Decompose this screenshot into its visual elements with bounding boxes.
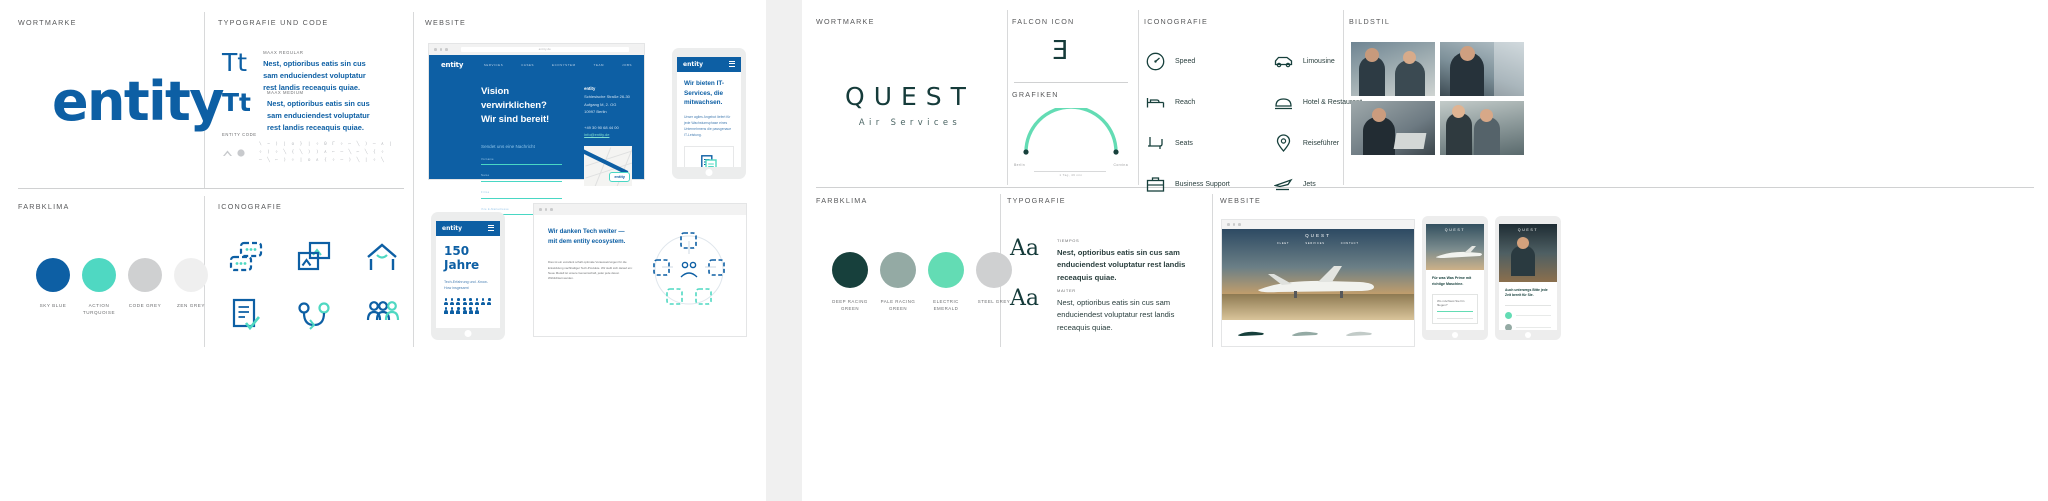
- footer-jet-thumbs: [1236, 328, 1374, 338]
- list-line: [1516, 327, 1551, 328]
- window-dot-green: [1238, 223, 1241, 226]
- quest-nav-contact[interactable]: CONTACT: [1341, 242, 1359, 245]
- code-line-2: ÷ ) ÷ ╲ { ╲ ) ) ∧ ⌐ ─ ╲ ⌐ ╲ { ÷: [259, 149, 393, 157]
- rule: [1505, 305, 1551, 306]
- window-dot-red: [434, 48, 437, 51]
- code-label: ENTITY CODE: [222, 132, 393, 137]
- quest-phone-body-1: Für was Was Prime mit richtige Maschine.…: [1426, 270, 1484, 330]
- person-glyph: [444, 298, 448, 305]
- icon-column-right: Limousine Hotel & Restaurant Reiseführer: [1274, 52, 1362, 194]
- swatch-zen-grey: ZEN GREY: [174, 258, 208, 317]
- seats-icon: [1146, 134, 1165, 153]
- divider-vertical-r5: [1212, 194, 1213, 347]
- quest-wordmark: QUEST Air Services: [820, 82, 1000, 127]
- person-glyph: [463, 307, 467, 314]
- nav-item-team[interactable]: TEAM: [594, 63, 604, 67]
- swatch-deep-racing-green: DEEP RACING GREEN: [832, 252, 868, 313]
- form-field-vorname[interactable]: Vorname: [481, 158, 562, 166]
- phone-topbar: entity: [436, 221, 500, 236]
- label-typografie-right: TYPOGRAFIE: [1007, 196, 1066, 205]
- quest-phone-hero: QUEST: [1426, 224, 1484, 270]
- hero-right-col: entity Schlesische Straße 26-30 Aufgang …: [584, 85, 632, 215]
- entity-wordmark: entity: [52, 70, 223, 133]
- address-bar[interactable]: entity.de: [461, 47, 629, 52]
- icon-item-business-support: Business Support: [1146, 175, 1230, 194]
- quest-phone-hero-2: QUEST: [1499, 224, 1557, 282]
- window-dot-yellow: [440, 48, 443, 51]
- person-glyph: [456, 298, 460, 305]
- phone-screen-services: entity Wir bieten IT-Services, die mitwa…: [677, 57, 741, 167]
- hero-content: Vision verwirklichen? Wir sind bereit! S…: [429, 73, 644, 215]
- falcon-glyph-icon: Ǝ: [1052, 36, 1067, 66]
- jet-silhouette-icon: [1430, 242, 1484, 264]
- icon-label: Reach: [1175, 98, 1195, 108]
- icon-label: Limousine: [1303, 57, 1335, 67]
- icon-label: Speed: [1175, 57, 1195, 67]
- form-field-firma[interactable]: Firma: [481, 191, 562, 199]
- quest-icon-list: Speed Reach Seats: [1146, 52, 1362, 194]
- tt-glyph-medium: Tt: [222, 90, 251, 115]
- aa-glyph-maiter: Aa: [1010, 288, 1039, 310]
- swatch-electric-emerald: ELECTRIC EMERALD: [928, 252, 964, 313]
- quest-main-text: QUEST: [820, 82, 1000, 111]
- nav-item-services[interactable]: SERVICES: [484, 63, 503, 67]
- code-line-3: ─ ╲ ⌐ ) ÷ | o ∧ { ÷ ─ ) ╲ | ÷ ╲: [259, 157, 393, 165]
- quest-hero-image: QUEST FLEET SERVICES CONTACT: [1222, 229, 1414, 320]
- quest-phone-list-item[interactable]: [1505, 324, 1551, 330]
- window-dot-yellow: [545, 208, 548, 211]
- circle-shape-icon: [237, 149, 245, 157]
- field-underline: [481, 198, 562, 199]
- swatch-dot: [82, 258, 116, 292]
- label-grafiken: GRAFIKEN: [1012, 90, 1059, 99]
- hamburger-menu-icon[interactable]: [729, 61, 735, 68]
- person-glyph: [450, 307, 454, 314]
- limousine-icon: [1274, 52, 1293, 71]
- site-nav-items: SERVICES CASES ECOSYSTEM TEAM JOBS: [484, 63, 632, 67]
- divider-falcon-graphics: [1014, 82, 1128, 83]
- ecosystem-browser-mockup[interactable]: Wir danken Tech weiter — mit dem entity …: [534, 204, 746, 336]
- divider-vertical-r2: [1138, 10, 1139, 185]
- quest-phone-logo[interactable]: QUEST: [1426, 228, 1484, 232]
- ecosystem-diagram-col: [646, 227, 732, 313]
- phone-logo[interactable]: entity: [442, 225, 462, 232]
- type-sample-medium: Tt MAAX MEDIUM Nest, optioribus eatis si…: [222, 90, 379, 134]
- icon-document-checklist: [212, 286, 280, 344]
- quest-site-footer: [1222, 320, 1414, 346]
- ecosystem-paragraph: Dies ist ein exzellent schaft optimale V…: [548, 260, 634, 282]
- quest-phone-headline: Für was Was Prime mit richtige Maschine.: [1432, 276, 1478, 287]
- nav-item-ecosystem[interactable]: ECOSYSTEM: [552, 63, 576, 67]
- icon-item-jets: Jets: [1274, 175, 1362, 194]
- quest-phone-logo-2[interactable]: QUEST: [1499, 228, 1557, 232]
- phone-product-card[interactable]: entity product: [684, 146, 734, 167]
- quest-phone-form[interactable]: Wo möchtest Sie hin fliegen?: [1432, 294, 1478, 324]
- quest-sub-text: Air Services: [820, 117, 1000, 127]
- label-falcon-icon: FALCON ICON: [1012, 17, 1074, 26]
- label-website-left: WEBSITE: [425, 18, 466, 27]
- tt-glyph-regular: Tt: [222, 50, 247, 75]
- swatch-label: ACTION TURQUOISE: [82, 302, 116, 317]
- swatch-dot: [128, 258, 162, 292]
- url-text: entity.de: [539, 48, 551, 51]
- icon-label: Seats: [1175, 139, 1193, 149]
- ecosystem-circle-diagram: [647, 227, 731, 313]
- jet-thumb-icon: [1344, 328, 1374, 338]
- swatch-action-turquoise: ACTION TURQUOISE: [82, 258, 116, 317]
- quest-phone-body-2: Auch unterwegs Bitte jede Zeit bereit fü…: [1499, 282, 1557, 330]
- person-glyph: [475, 298, 479, 305]
- site-hero: entity SERVICES CASES ECOSYSTEM TEAM JOB…: [429, 55, 644, 179]
- address-line2: Aufgang M, 2. OG: [584, 102, 616, 107]
- gauge-rule: [1034, 171, 1106, 172]
- jet-thumb-icon: [1236, 328, 1266, 338]
- home-smile-icon: [365, 242, 399, 272]
- quest-phone-screen-2: QUEST Auch unterwegs Bitte jede Zeit ber…: [1499, 224, 1557, 330]
- window-dot-red: [539, 208, 542, 211]
- icon-chat-bubbles: [212, 228, 280, 286]
- site-navbar: entity SERVICES CASES ECOSYSTEM TEAM JOB…: [429, 55, 644, 73]
- gauge-duration-caption: 1 Tag, 46 min: [1014, 173, 1128, 177]
- bullet-dot-icon: [1505, 324, 1512, 330]
- label-farbklima: FARBKLIMA: [18, 202, 70, 211]
- quest-phone-mockup-2[interactable]: QUEST Auch unterwegs Bitte jede Zeit ber…: [1495, 216, 1561, 340]
- aa-body-maiter: Nest, optioribus eatis sin cus sam enduc…: [1057, 297, 1207, 334]
- phone-mockup-services[interactable]: entity Wir bieten IT-Services, die mitwa…: [672, 48, 746, 179]
- person-glyph: [450, 298, 454, 305]
- swatch-dot: [832, 252, 868, 288]
- swatch-label: DEEP RACING GREEN: [832, 298, 868, 313]
- quest-phone-list-item[interactable]: [1505, 312, 1551, 319]
- phone-services-content: Wir bieten IT-Services, die mitwachsen. …: [677, 72, 741, 167]
- field-label: Name: [481, 174, 562, 177]
- type-meta-regular: MAAX REGULAR: [263, 50, 375, 55]
- quest-phone-headline-2: Auch unterwegs Bitte jede Zeit bereit fü…: [1505, 288, 1551, 299]
- hero-title-line1: Vision verwirklichen?: [481, 85, 562, 113]
- phone-home-button[interactable]: [1525, 332, 1531, 338]
- photo-couple-boarding-jet: [1440, 101, 1524, 155]
- field-label: Vorname: [481, 158, 562, 161]
- phone-topbar: entity: [677, 57, 741, 72]
- chevron-shape-icon: [222, 149, 233, 157]
- jets-icon: [1274, 175, 1293, 194]
- photo-pilot-cockpit: [1440, 42, 1524, 96]
- label-typografie: TYPOGRAFIE UND CODE: [218, 18, 328, 27]
- swatch-dot: [976, 252, 1012, 288]
- team-group-icon: [364, 300, 400, 330]
- address-street: Schlesische Straße 26-30: [584, 94, 630, 99]
- field-underline: [481, 164, 562, 165]
- swatch-label: STEEL GREY: [976, 298, 1012, 305]
- person-head: [1517, 237, 1529, 249]
- swatch-label: ZEN GREY: [174, 302, 208, 309]
- color-swatch-row: SKY BLUE ACTION TURQUOISE CODE GREY ZEN …: [36, 258, 208, 317]
- phone-home-button[interactable]: [465, 330, 472, 337]
- imagery-photo-grid: [1351, 42, 1524, 155]
- form-underline-2: [1437, 318, 1473, 319]
- contact-address: entity Schlesische Straße 26-30 Aufgang …: [584, 85, 632, 116]
- stat-unit: Jahre: [444, 258, 492, 272]
- contact-email[interactable]: info@entity.de: [584, 132, 609, 137]
- swatch-steel-grey: STEEL GREY: [976, 252, 1012, 313]
- type-meta-medium: MAAX MEDIUM: [267, 90, 379, 95]
- quest-nav-services[interactable]: SERVICES: [1305, 242, 1324, 245]
- phone-services-paragraph: Unser agiles Angebot liefert für jede Wa…: [684, 114, 734, 139]
- phone-home-button[interactable]: [706, 169, 713, 176]
- hotel-restaurant-icon: [1274, 93, 1293, 112]
- quest-type-sample-maiter: Aa MAITER Nest, optioribus eatis sin cus…: [1010, 288, 1207, 334]
- window-dot-green: [445, 48, 448, 51]
- phone-home-button[interactable]: [1452, 332, 1458, 338]
- right-brand-page: WORTMARKE QUEST Air Services FALCON ICON…: [802, 0, 2048, 501]
- window-dot-red: [1227, 223, 1230, 226]
- quest-color-swatch-row: DEEP RACING GREEN PALE RACING GREEN ELEC…: [832, 252, 1012, 313]
- phone-services-headline: Wir bieten IT-Services, die mitwachsen.: [684, 79, 734, 108]
- phone-logo[interactable]: entity: [683, 61, 703, 68]
- person-glyph: [456, 307, 460, 314]
- type-body-medium: Nest, optioribus eatis sin cus sam enduc…: [267, 98, 379, 134]
- swatch-label: SKY BLUE: [36, 302, 70, 309]
- stat-caption: Tech-Erfahrung und -Know-How insgesamt: [444, 279, 492, 292]
- bed-icon: [1146, 93, 1165, 112]
- form-intro: Sendet uns eine Nachricht: [481, 144, 562, 149]
- icon-item-seats: Seats: [1146, 134, 1230, 153]
- divider-horizontal-1: [18, 188, 404, 189]
- icon-sync-network: [280, 286, 348, 344]
- icon-image-gallery: [280, 228, 348, 286]
- gauge-endpoint-labels: Berlin Corvina: [1014, 163, 1128, 167]
- quest-phone-mockup-1[interactable]: QUEST Für was Was Prime mit richtige Mas…: [1422, 216, 1488, 340]
- gauge-left-label: Berlin: [1014, 163, 1025, 167]
- swatch-sky-blue: SKY BLUE: [36, 258, 70, 317]
- icon-item-limousine: Limousine: [1274, 52, 1362, 71]
- swatch-pale-racing-green: PALE RACING GREEN: [880, 252, 916, 313]
- quest-type-sample-tiempos: Aa TIEMPOS Nest, optioribus eatis sin cu…: [1010, 238, 1207, 284]
- swatch-label: ELECTRIC EMERALD: [928, 298, 964, 313]
- site-logo[interactable]: entity: [441, 61, 463, 69]
- label-wortmarke-right: WORTMARKE: [816, 17, 875, 26]
- list-line: [1516, 315, 1551, 316]
- swatch-code-grey: CODE GREY: [128, 258, 162, 317]
- photo-businessmen-talking: [1351, 42, 1435, 96]
- icon-team-group: [348, 286, 416, 344]
- type-body-regular: Nest, optioribus eatis sin cus sam enduc…: [263, 58, 375, 94]
- hamburger-menu-icon[interactable]: [488, 225, 494, 232]
- phone-mockup-stats[interactable]: entity 150 Jahre Tech-Erfahrung und -Kno…: [431, 212, 505, 340]
- hero-title-line2: Wir sind bereit!: [481, 113, 562, 127]
- ecosystem-headline-1: Wir danken Tech weiter —: [548, 227, 634, 237]
- window-dot-yellow: [1233, 223, 1236, 226]
- aa-meta-maiter: MAITER: [1057, 288, 1207, 293]
- company-name: entity: [584, 86, 595, 91]
- code-shape-icons: [222, 141, 245, 157]
- phone-stats-content: 150 Jahre Tech-Erfahrung und -Know-How i…: [436, 236, 500, 322]
- quest-nav-fleet[interactable]: FLEET: [1277, 242, 1289, 245]
- documents-copy-icon: [701, 155, 717, 167]
- form-field-name[interactable]: Name: [481, 174, 562, 182]
- icon-label: Jets: [1303, 180, 1316, 190]
- icon-item-reach: Reach: [1146, 93, 1230, 112]
- chat-bubbles-icon: [229, 241, 263, 273]
- aa-glyph-tiempos: Aa: [1010, 238, 1039, 260]
- icon-item-reisefuehrer: Reiseführer: [1274, 134, 1362, 153]
- private-jet-silhouette: [1222, 256, 1414, 306]
- gauge-right-label: Corvina: [1114, 163, 1128, 167]
- address-city: 10997 Berlin: [584, 109, 606, 114]
- icon-label: Reiseführer: [1303, 139, 1339, 149]
- nav-item-jobs[interactable]: JOBS: [622, 63, 632, 67]
- label-bildstil: BILDSTIL: [1349, 17, 1390, 26]
- aa-meta-tiempos: TIEMPOS: [1057, 238, 1207, 243]
- route-gauge-graphic: Berlin Corvina 1 Tag, 46 min: [1014, 108, 1128, 177]
- contact-phone: +49 30 90 68 44 00: [584, 125, 619, 130]
- phone-screen-stats: entity 150 Jahre Tech-Erfahrung und -Kno…: [436, 221, 500, 328]
- stat-number: 150: [444, 244, 492, 258]
- browser-chrome-bar: [1222, 220, 1414, 229]
- photo-man-laptop-cabin: [1351, 101, 1435, 155]
- divider-horizontal-r1: [816, 187, 2034, 188]
- ecosystem-headline-2: mit dem entity ecosystem.: [548, 237, 634, 247]
- bullet-dot-icon: [1505, 312, 1512, 319]
- swatch-dot: [174, 258, 208, 292]
- swatch-label: PALE RACING GREEN: [880, 298, 916, 313]
- quest-site-logo[interactable]: QUEST: [1222, 233, 1414, 238]
- browser-chrome-bar: entity.de: [429, 44, 644, 55]
- people-illustration-row: [444, 298, 492, 313]
- icon-column-left: Speed Reach Seats: [1146, 52, 1230, 194]
- icon-grid-entity: [212, 228, 416, 344]
- person-glyph: [444, 307, 448, 314]
- entity-code-block: ENTITY CODE \ ~ ) | o } | ÷ 0 Γ ÷ ⌐ ╲ ) …: [222, 132, 393, 165]
- map-pin-icon: [1274, 134, 1293, 153]
- form-underline: [1437, 311, 1473, 312]
- icon-home-smile: [348, 228, 416, 286]
- field-label: Firma: [481, 191, 562, 194]
- sync-network-icon: [296, 300, 332, 330]
- contact-map[interactable]: entity: [584, 146, 632, 186]
- map-pin-entity: entity: [609, 172, 630, 182]
- aa-body-tiempos: Nest, optioribus eatis sin cus sam enduc…: [1057, 247, 1207, 284]
- person-glyph: [463, 298, 467, 305]
- contact-details: +49 30 90 68 44 00 info@entity.de: [584, 124, 632, 139]
- person-glyph: [469, 307, 473, 314]
- quest-site-nav: FLEET SERVICES CONTACT: [1222, 242, 1414, 245]
- quest-desktop-browser[interactable]: QUEST FLEET SERVICES CONTACT: [1222, 220, 1414, 346]
- portfolio-canvas: WORTMARKE entity TYPOGRAFIE UND CODE Tt …: [0, 0, 2048, 501]
- arc-gauge-icon: [1014, 108, 1128, 156]
- ecosystem-content: Wir danken Tech weiter — mit dem entity …: [534, 215, 746, 325]
- business-support-icon: [1146, 175, 1165, 194]
- label-farbklima-right: FARBKLIMA: [816, 196, 868, 205]
- person-glyph: [475, 307, 479, 314]
- quest-phone-screen-1: QUEST Für was Was Prime mit richtige Mas…: [1426, 224, 1484, 330]
- swatch-label: CODE GREY: [128, 302, 162, 309]
- page-gutter: [766, 0, 802, 501]
- icon-label: Business Support: [1175, 180, 1230, 190]
- document-checklist-icon: [230, 298, 262, 332]
- left-brand-page: WORTMARKE entity TYPOGRAFIE UND CODE Tt …: [0, 0, 766, 501]
- speed-gauge-icon: [1146, 52, 1165, 71]
- icon-item-speed: Speed: [1146, 52, 1230, 71]
- person-glyph: [469, 298, 473, 305]
- browser-chrome-bar: [534, 204, 746, 215]
- label-iconografie-left: ICONOGRAFIE: [218, 202, 282, 211]
- icon-item-hotel-restaurant: Hotel & Restaurant: [1274, 93, 1362, 112]
- swatch-dot: [880, 252, 916, 288]
- image-gallery-icon: [297, 241, 331, 273]
- hero-left-col: Vision verwirklichen? Wir sind bereit! S…: [481, 85, 562, 215]
- jet-thumb-icon: [1290, 328, 1320, 338]
- person-glyph: [487, 298, 491, 305]
- code-line-1: \ ~ ) | o } | ÷ 0 Γ ÷ ⌐ ╲ ) ─ ∧ |: [259, 141, 393, 149]
- ecosystem-text-col: Wir danken Tech weiter — mit dem entity …: [548, 227, 634, 313]
- label-website-right: WEBSITE: [1220, 196, 1261, 205]
- label-iconografie-right: ICONOGRAFIE: [1144, 17, 1208, 26]
- divider-vertical-r1: [1007, 10, 1008, 185]
- person-glyph: [481, 298, 485, 305]
- window-dot-green: [550, 208, 553, 211]
- field-underline: [481, 181, 562, 182]
- quest-phone-form-label: Wo möchtest Sie hin fliegen?: [1437, 299, 1473, 307]
- label-wortmarke: WORTMARKE: [18, 18, 77, 27]
- nav-item-cases[interactable]: CASES: [521, 63, 534, 67]
- swatch-dot: [928, 252, 964, 288]
- swatch-dot: [36, 258, 70, 292]
- desktop-browser-mockup[interactable]: entity.de entity SERVICES CASES ECOSYSTE…: [429, 44, 644, 179]
- person-silhouette: [1511, 246, 1535, 276]
